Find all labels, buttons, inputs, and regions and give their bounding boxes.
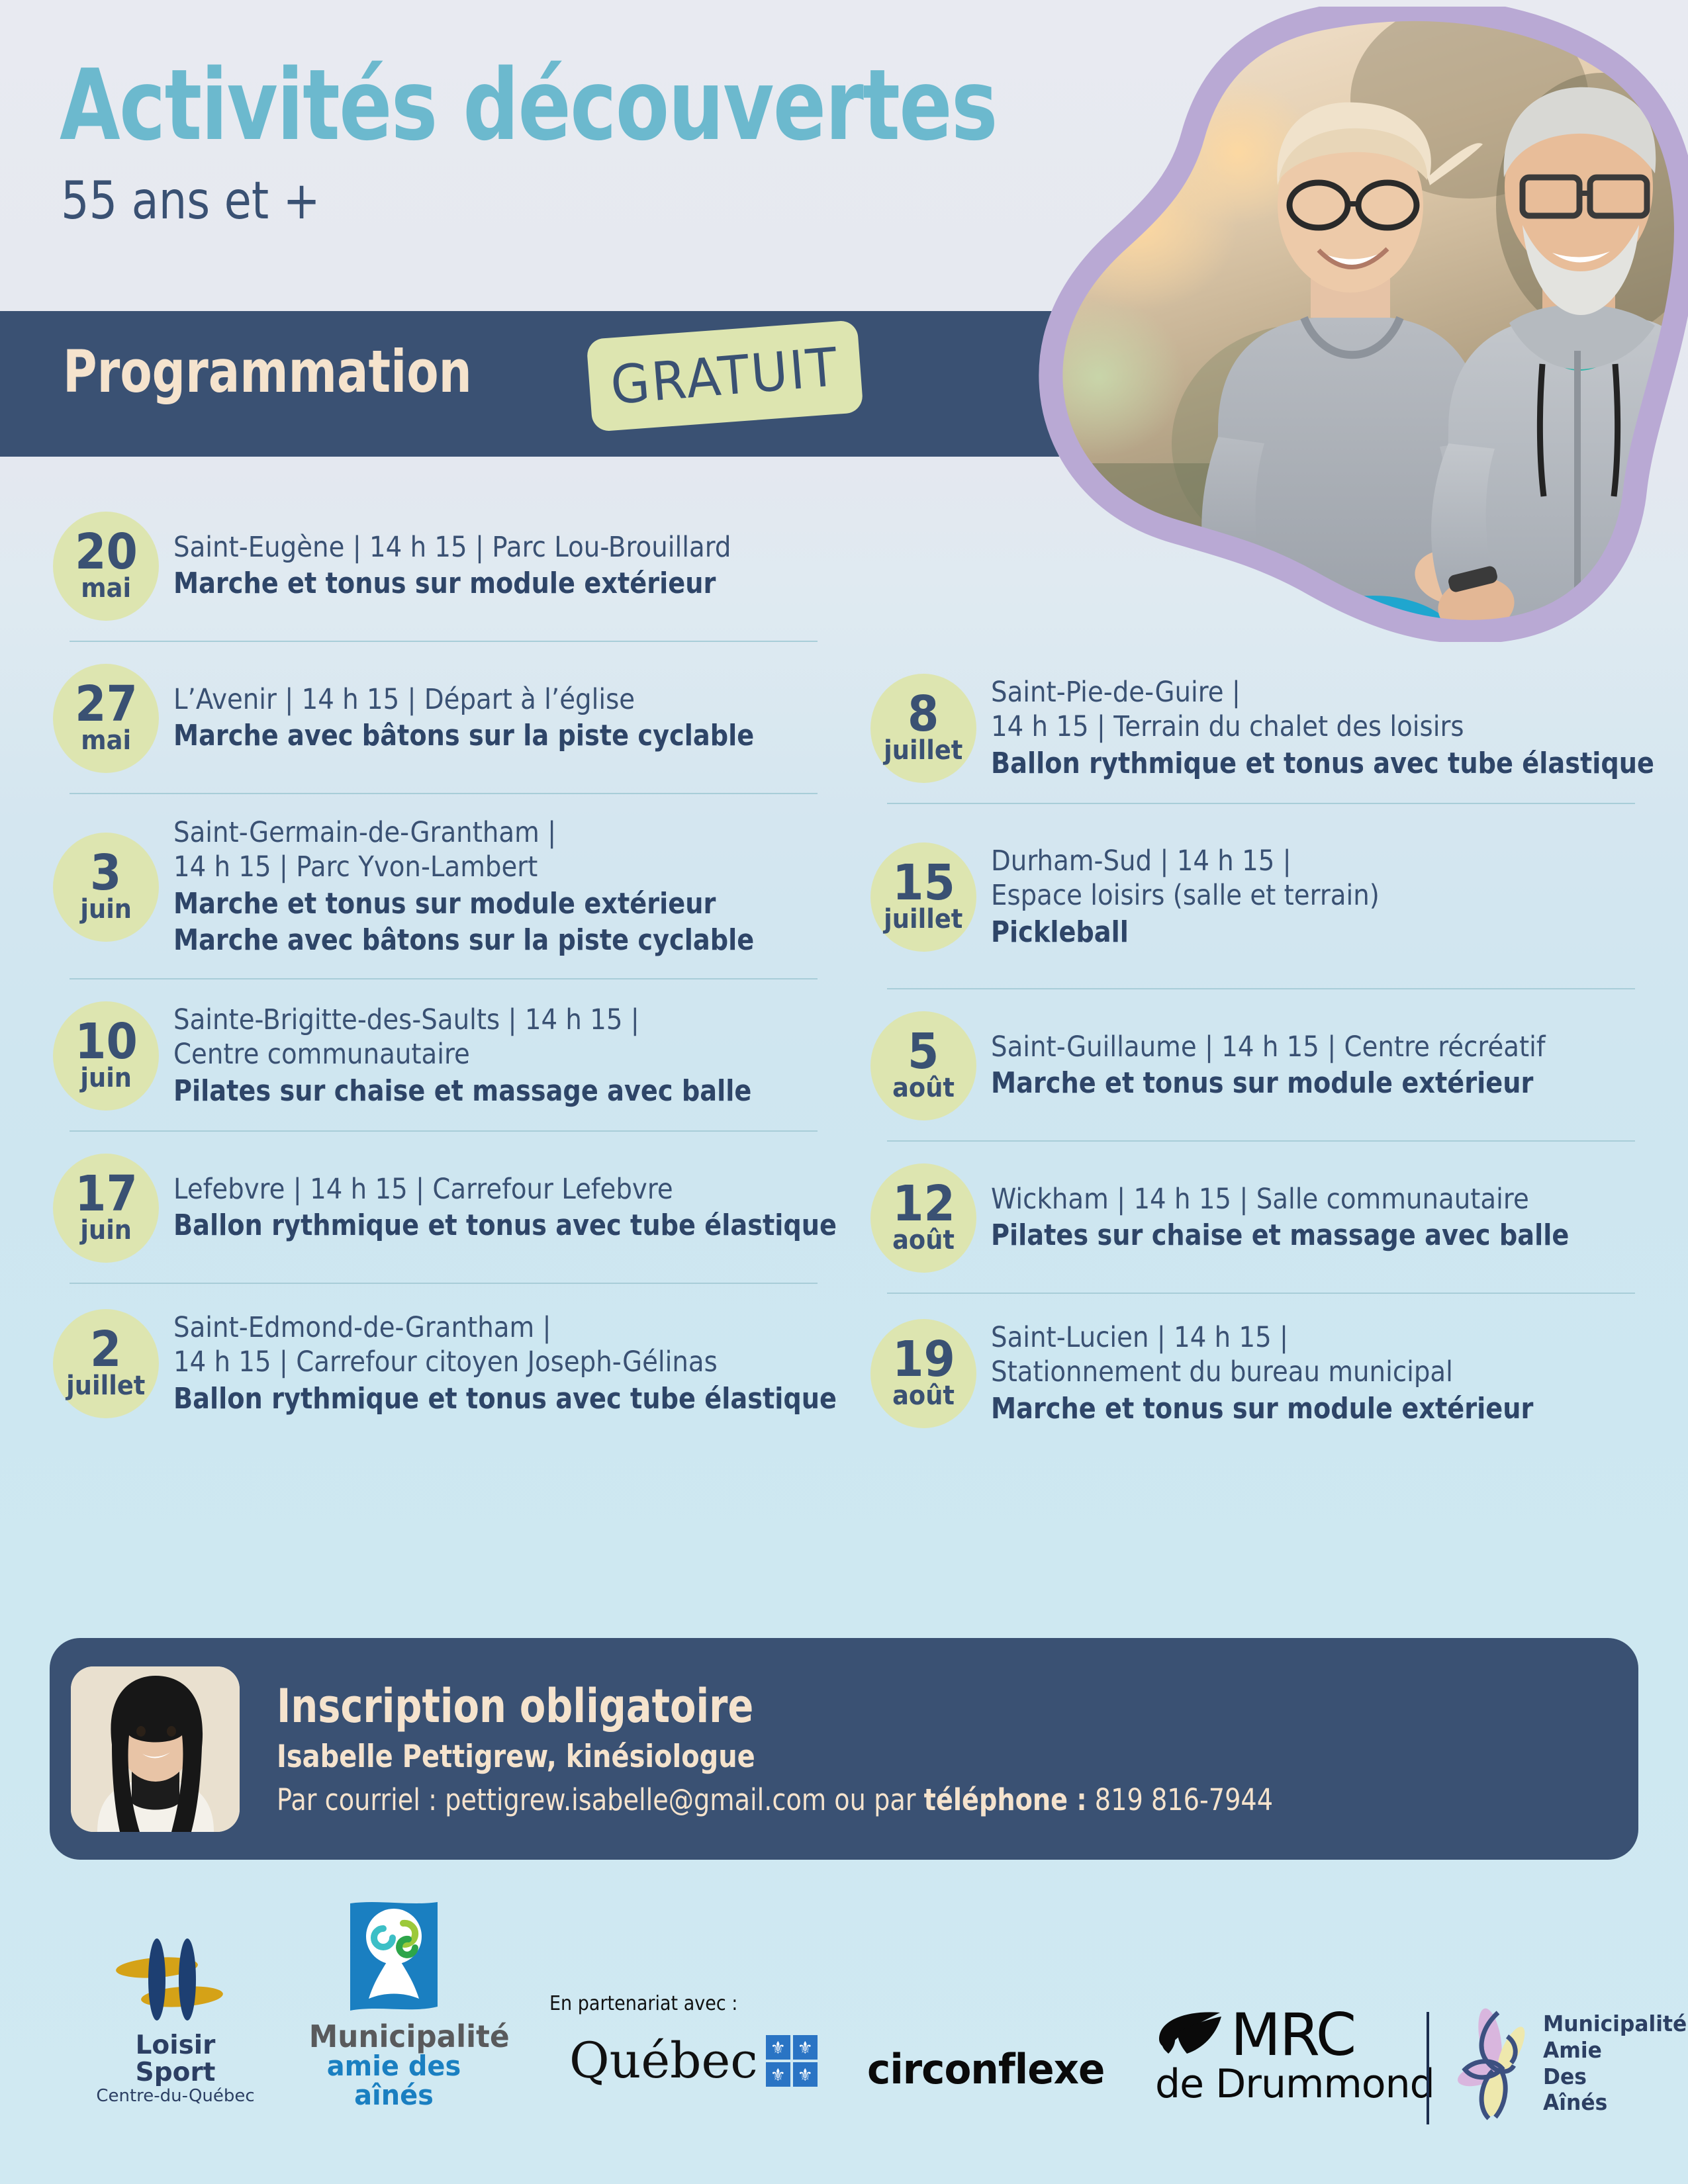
event-date-badge: 3juin xyxy=(53,833,159,942)
event-day: 20 xyxy=(75,529,138,574)
event-details: Sainte-Brigitte-des-Saults | 14 h 15 |Ce… xyxy=(173,997,838,1115)
mrc-subtitle: de Drummond xyxy=(1155,2064,1434,2104)
logo-loisir-sport: Loisir Sport Centre-du-Québec xyxy=(93,1929,258,2105)
event-place-line: Saint-Edmond-de-Grantham | xyxy=(173,1310,860,1345)
schedule-event: 10juinSainte-Brigitte-des-Saults | 14 h … xyxy=(50,979,837,1132)
event-day: 15 xyxy=(892,860,955,905)
quebec-fleurdelis-icon: ⚜ ⚜ ⚜ ⚜ xyxy=(766,2035,818,2087)
event-details: Wickham | 14 h 15 | Salle communautaireP… xyxy=(991,1177,1656,1259)
gratuit-badge: GRATUIT xyxy=(586,320,863,432)
event-day: 8 xyxy=(908,692,939,737)
event-month: juillet xyxy=(66,1372,145,1400)
event-activity: Pickleball xyxy=(991,915,1569,950)
page-subtitle: 55 ans et + xyxy=(61,175,320,227)
event-date-badge: 19août xyxy=(870,1319,976,1428)
event-date-badge: 12août xyxy=(870,1163,976,1273)
loisir-sport-line2: Centre-du-Québec xyxy=(93,2087,258,2106)
contact-phone-label: téléphone : xyxy=(924,1782,1087,1817)
event-activity: Ballon rythmique et tonus avec tube élas… xyxy=(173,1208,837,1244)
event-activity: Pilates sur chaise et massage avec balle xyxy=(991,1218,1569,1253)
quebec-wordmark: Québec xyxy=(569,2036,758,2085)
event-activity: Ballon rythmique et tonus avec tube élas… xyxy=(173,1381,837,1417)
event-month: juin xyxy=(80,1216,132,1244)
mada-right-line1: Municipalité xyxy=(1543,2011,1687,2037)
event-activity: Marche avec bâtons sur la piste cyclable xyxy=(173,923,754,958)
logo-mada-right: Municipalité Amie Des Aînés xyxy=(1453,2002,1688,2124)
event-place-line: Sainte-Brigitte-des-Saults | 14 h 15 | xyxy=(173,1003,771,1037)
event-date-badge: 27mai xyxy=(53,664,159,773)
schedule-event: 17juinLefebvre | 14 h 15 | Carrefour Lef… xyxy=(50,1132,837,1284)
footer-logos: Loisir Sport Centre-du-Québec Municipali… xyxy=(0,1906,1688,2184)
schedule-event: 15juilletDurham-Sud | 14 h 15 |Espace lo… xyxy=(867,804,1655,989)
event-day: 27 xyxy=(75,682,138,727)
event-activity: Ballon rythmique et tonus avec tube élas… xyxy=(991,746,1654,782)
event-place-line: Centre communautaire xyxy=(173,1037,771,1071)
event-place-line: Saint-Guillaume | 14 h 15 | Centre récré… xyxy=(991,1030,1589,1064)
event-day: 10 xyxy=(75,1019,138,1064)
event-place-line: Saint-Pie-de-Guire | xyxy=(991,675,1677,709)
event-place-line: 14 h 15 | Parc Yvon-Lambert xyxy=(173,850,774,884)
programmation-banner: Programmation GRATUIT xyxy=(0,311,1059,457)
schedule-event: 8juilletSaint-Pie-de-Guire |14 h 15 | Te… xyxy=(867,652,1655,804)
fleur-4: ⚜ xyxy=(793,2062,818,2087)
schedule-event: 3juinSaint-Germain-de-Grantham |14 h 15 … xyxy=(50,794,837,979)
event-activity: Marche et tonus sur module extérieur xyxy=(173,886,754,922)
event-place-line: Saint-Eugène | 14 h 15 | Parc Lou-Brouil… xyxy=(173,530,771,565)
event-place-line: Saint-Germain-de-Grantham | xyxy=(173,815,774,850)
mada-line1: Municipalité xyxy=(309,2021,479,2052)
event-day: 12 xyxy=(892,1181,955,1226)
programmation-label: Programmation xyxy=(63,343,472,401)
partner-label: En partenariat avec : xyxy=(549,1992,737,2015)
event-place-line: 14 h 15 | Carrefour citoyen Joseph-Gélin… xyxy=(173,1345,860,1379)
event-activity: Pilates sur chaise et massage avec balle xyxy=(173,1073,751,1109)
schedule-grid: 20maiSaint-Eugène | 14 h 15 | Parc Lou-B… xyxy=(0,490,1688,1575)
footer-logo-divider xyxy=(1427,2012,1429,2124)
event-details: L’Avenir | 14 h 15 | Départ à l’égliseMa… xyxy=(173,677,841,759)
event-activity: Marche et tonus sur module extérieur xyxy=(991,1066,1569,1101)
event-date-badge: 15juillet xyxy=(870,842,976,952)
schedule-event: 27maiL’Avenir | 14 h 15 | Départ à l’égl… xyxy=(50,642,837,794)
event-month: juin xyxy=(80,895,132,923)
schedule-event: 2juilletSaint-Edmond-de-Grantham |14 h 1… xyxy=(50,1284,837,1443)
mrc-mark-icon xyxy=(1155,2009,1227,2060)
mrc-wordmark: MRC xyxy=(1231,2011,1355,2060)
event-place-line: Lefebvre | 14 h 15 | Carrefour Lefebvre xyxy=(173,1172,860,1206)
event-place-line: Saint-Lucien | 14 h 15 | xyxy=(991,1320,1589,1355)
event-month: mai xyxy=(81,574,131,602)
mada-right-line2: Amie xyxy=(1543,2037,1687,2064)
event-month: août xyxy=(892,1226,955,1254)
event-month: août xyxy=(892,1382,955,1410)
page-title: Activités découvertes xyxy=(60,56,997,154)
loisir-sport-line1: Loisir Sport xyxy=(93,2032,258,2087)
mada-line2: amie des aînés xyxy=(309,2052,479,2110)
logo-mrc-drummond: MRC de Drummond xyxy=(1155,2009,1434,2104)
event-date-badge: 5août xyxy=(870,1011,976,1120)
avatar xyxy=(71,1666,240,1832)
event-day: 5 xyxy=(908,1029,939,1074)
event-place-line: Wickham | 14 h 15 | Salle communautaire xyxy=(991,1182,1589,1216)
event-details: Saint-Germain-de-Grantham |14 h 15 | Par… xyxy=(173,810,841,964)
event-place-line: Stationnement du bureau municipal xyxy=(991,1355,1589,1389)
event-place-line: Espace loisirs (salle et terrain) xyxy=(991,878,1589,913)
event-activity: Marche et tonus sur module extérieur xyxy=(991,1391,1569,1427)
event-details: Durham-Sud | 14 h 15 |Espace loisirs (sa… xyxy=(991,839,1655,956)
mada-right-line4: Aînés xyxy=(1543,2089,1687,2116)
event-details: Saint-Eugène | 14 h 15 | Parc Lou-Brouil… xyxy=(173,525,837,607)
logo-mada: Municipalité amie des aînés xyxy=(305,1899,483,2110)
fleur-3: ⚜ xyxy=(766,2062,790,2087)
event-place-line: 14 h 15 | Terrain du chalet des loisirs xyxy=(991,709,1677,744)
logo-quebec: Québec ⚜ ⚜ ⚜ ⚜ xyxy=(569,2035,818,2087)
contact-phone-number: 819 816-7944 xyxy=(1087,1782,1273,1817)
event-activity: Marche avec bâtons sur la piste cyclable xyxy=(173,718,754,754)
fleur-2: ⚜ xyxy=(793,2035,818,2060)
schedule-event: 20maiSaint-Eugène | 14 h 15 | Parc Lou-B… xyxy=(50,490,837,642)
event-month: mai xyxy=(81,727,131,754)
event-date-badge: 10juin xyxy=(53,1001,159,1111)
event-month: juin xyxy=(80,1064,132,1092)
logo-circonflexe: circonflexe xyxy=(867,2045,1104,2093)
event-activity: Marche et tonus sur module extérieur xyxy=(173,566,751,602)
event-day: 17 xyxy=(75,1171,138,1216)
event-place-line: Durham-Sud | 14 h 15 | xyxy=(991,844,1589,878)
event-details: Saint-Pie-de-Guire |14 h 15 | Terrain du… xyxy=(991,670,1688,787)
mada-right-line3: Des xyxy=(1543,2064,1687,2090)
inscription-contact-name: Isabelle Pettigrew, kinésiologue xyxy=(277,1740,1273,1774)
loisir-sport-mark-icon xyxy=(93,1929,258,2028)
hero-photo-blob xyxy=(1019,7,1688,642)
schedule-event: 19aoûtSaint-Lucien | 14 h 15 |Stationnem… xyxy=(867,1294,1655,1453)
event-date-badge: 2juillet xyxy=(53,1309,159,1418)
schedule-event: 5aoûtSaint-Guillaume | 14 h 15 | Centre … xyxy=(867,989,1655,1142)
gratuit-badge-label: GRATUIT xyxy=(608,336,841,416)
event-date-badge: 20mai xyxy=(53,512,159,621)
inscription-title: Inscription obligatoire xyxy=(277,1682,1238,1731)
contact-email-text: Par courriel : pettigrew.isabelle@gmail.… xyxy=(277,1782,924,1817)
inscription-contact-line: Par courriel : pettigrew.isabelle@gmail.… xyxy=(277,1784,1273,1817)
event-date-badge: 17juin xyxy=(53,1154,159,1263)
event-place-line: L’Avenir | 14 h 15 | Départ à l’église xyxy=(173,682,774,717)
event-day: 2 xyxy=(90,1327,121,1372)
mada-tree-flag-icon xyxy=(345,1899,443,2016)
event-month: août xyxy=(892,1074,955,1102)
event-details: Saint-Lucien | 14 h 15 |Stationnement du… xyxy=(991,1315,1655,1432)
event-month: juillet xyxy=(884,905,962,933)
dragonfly-icon xyxy=(1453,2002,1539,2124)
event-details: Lefebvre | 14 h 15 | Carrefour LefebvreB… xyxy=(173,1167,936,1249)
event-details: Saint-Edmond-de-Grantham |14 h 15 | Carr… xyxy=(173,1305,936,1422)
schedule-event: 12aoûtWickham | 14 h 15 | Salle communau… xyxy=(867,1142,1655,1294)
event-day: 3 xyxy=(90,850,121,895)
inscription-panel: Inscription obligatoire Isabelle Pettigr… xyxy=(50,1638,1638,1860)
event-day: 19 xyxy=(892,1337,955,1382)
event-date-badge: 8juillet xyxy=(870,674,976,783)
event-month: juillet xyxy=(884,737,962,764)
hero-photo-image xyxy=(1019,7,1688,642)
fleur-1: ⚜ xyxy=(766,2035,790,2060)
event-details: Saint-Guillaume | 14 h 15 | Centre récré… xyxy=(991,1024,1655,1107)
